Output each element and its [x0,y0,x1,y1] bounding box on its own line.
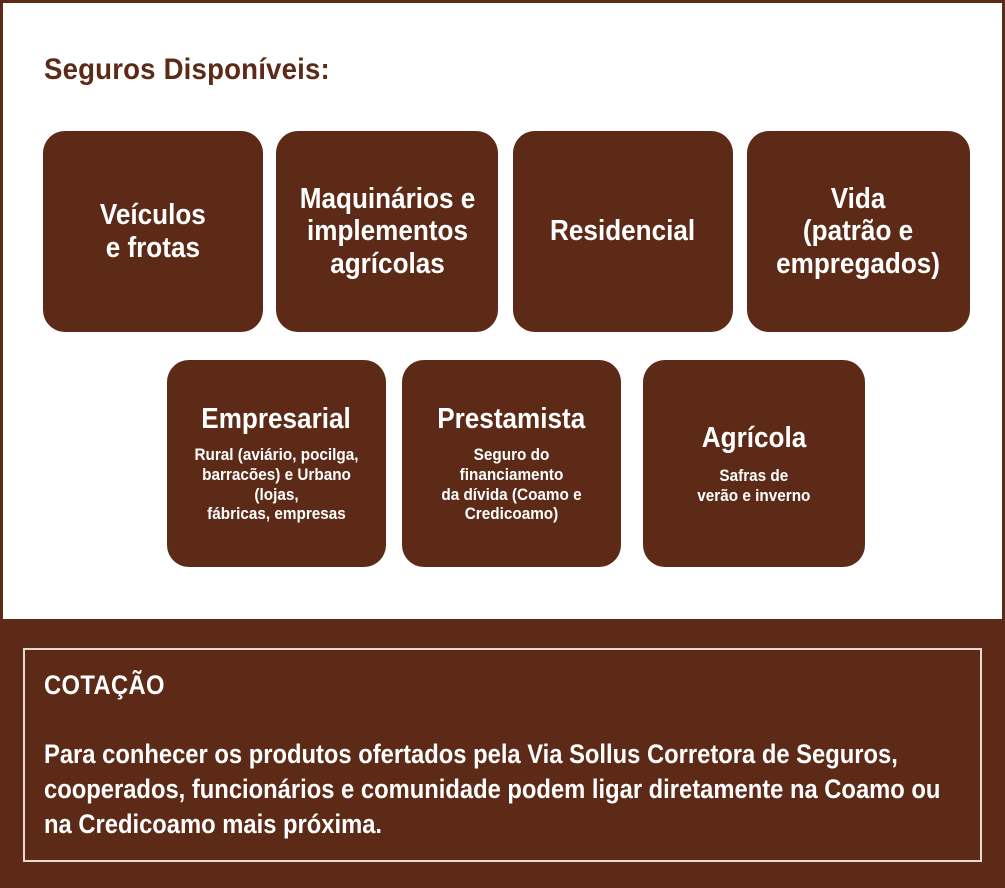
card-title: Agrícola [702,422,806,454]
available-insurance-panel: Seguros Disponíveis: Veículos e frotas M… [0,0,1005,622]
insurance-card-vida[interactable]: Vida (patrão e empregados) [747,131,970,332]
card-subtitle: Safras de verão e inverno [697,466,810,505]
insurance-card-prestamista[interactable]: Prestamista Seguro do financiamento da d… [402,360,621,567]
insurance-card-maquinarios-e-implementos-agricolas[interactable]: Maquinários e implementos agrícolas [276,131,498,332]
insurance-card-empresarial[interactable]: Empresarial Rural (aviário, pocilga, bar… [167,360,386,567]
quotation-heading: COTAÇÃO [44,670,851,701]
card-title: Residencial [550,215,695,247]
quotation-body-text: Para conhecer os produtos ofertados pela… [44,737,956,842]
card-title: Veículos e frotas [100,199,206,264]
card-title: Empresarial [202,403,351,435]
insurance-card-residencial[interactable]: Residencial [513,131,733,332]
insurance-products-infographic: Seguros Disponíveis: Veículos e frotas M… [0,0,1005,888]
quotation-banner: COTAÇÃO Para conhecer os produtos oferta… [0,622,1005,888]
card-title: Maquinários e implementos agrícolas [299,183,475,280]
card-subtitle: Rural (aviário, pocilga, barracões) e Ur… [185,445,368,524]
card-subtitle: Seguro do financiamento da dívida (Coamo… [420,445,603,524]
card-title: Prestamista [438,403,586,435]
quotation-banner-frame: COTAÇÃO Para conhecer os produtos oferta… [23,648,982,862]
insurance-card-veiculos-e-frotas[interactable]: Veículos e frotas [43,131,263,332]
insurance-card-agricola[interactable]: Agrícola Safras de verão e inverno [643,360,865,567]
page-title: Seguros Disponíveis: [44,53,330,87]
card-title: Vida (patrão e empregados) [777,183,941,280]
